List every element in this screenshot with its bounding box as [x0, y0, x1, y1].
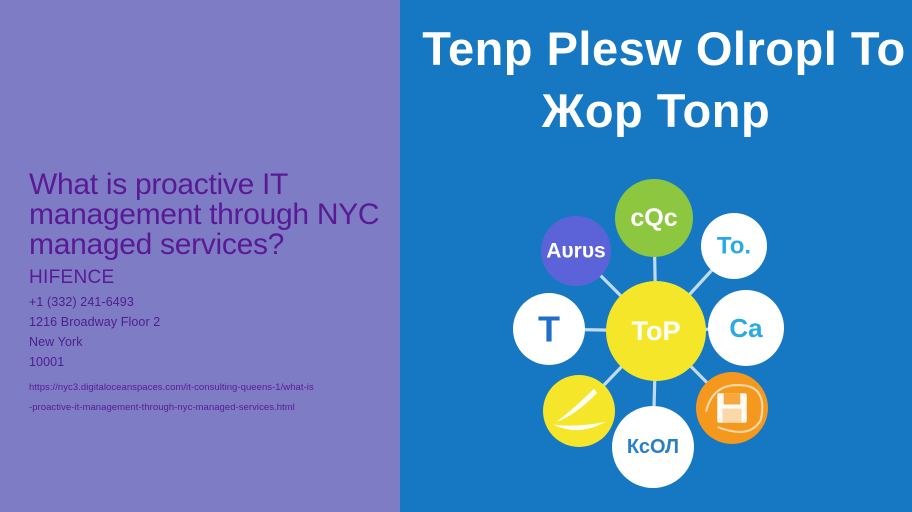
node-orange-save[interactable] [696, 372, 768, 444]
left-info-panel: What is proactive IT management through … [0, 0, 400, 512]
node-green-cqc-label: cQc [630, 204, 677, 232]
node-white-to[interactable]: To. [701, 213, 767, 279]
node-white-ca[interactable]: Ca [708, 290, 784, 366]
source-url-line-1: https://nyc3.digitaloceanspaces.com/it-c… [29, 378, 400, 398]
spoke-line-5 [688, 364, 709, 385]
slide-heading-line-2: Жop Tonp [400, 80, 912, 142]
hub-node-label: ToP [632, 316, 681, 346]
hub-and-spoke-diagram: AυrυscQcTo.CaКсОЛTToP [506, 166, 806, 502]
city-name: New York [29, 332, 400, 352]
spoke-line-1 [598, 273, 624, 299]
source-url-line-2: -proactive-it-management-through-nyc-man… [29, 398, 400, 418]
node-white-t-label: T [538, 309, 560, 350]
brand-name: HIFENCE [29, 266, 400, 289]
node-periwinkle-aurus-label: Aυrυs [546, 240, 605, 263]
node-white-to-label: To. [717, 233, 751, 260]
spoke-line-8 [581, 330, 610, 331]
node-yellow-glyph-circle [543, 375, 615, 447]
node-periwinkle-aurus[interactable]: Aυrυs [541, 216, 611, 286]
node-yellow-glyph[interactable] [543, 375, 615, 447]
slide-canvas: What is proactive IT management through … [0, 0, 912, 512]
node-white-kcon[interactable]: КсОЛ [612, 406, 694, 488]
page-title: What is proactive IT management through … [29, 170, 400, 260]
source-url[interactable]: https://nyc3.digitaloceanspaces.com/it-c… [29, 378, 400, 418]
node-white-ca-label: Ca [729, 313, 763, 343]
street-address: 1216 Broadway Floor 2 [29, 312, 400, 332]
node-white-t[interactable]: T [513, 293, 585, 365]
left-text-block: What is proactive IT management through … [29, 170, 400, 418]
diagram-svg: AυrυscQcTo.CaКсОЛTToP [506, 166, 806, 502]
postal-code: 10001 [29, 352, 400, 372]
spoke-line-2 [655, 253, 656, 285]
spoke-line-3 [687, 267, 714, 297]
phone-number: +1 (332) 241-6493 [29, 292, 400, 312]
right-visual-panel: Tenp Plesw Olropl To Жop Tonp AυrυscQcTo… [400, 0, 912, 512]
spoke-line-6 [654, 377, 655, 410]
slide-heading: Tenp Plesw Olropl To Жop Tonp [400, 18, 912, 142]
spoke-line-7 [601, 364, 624, 388]
node-green-cqc[interactable]: cQc [615, 179, 693, 257]
slide-heading-line-1: Tenp Plesw Olropl To [408, 18, 912, 80]
node-white-kcon-label: КсОЛ [627, 436, 679, 458]
hub-node[interactable]: ToP [606, 281, 706, 381]
